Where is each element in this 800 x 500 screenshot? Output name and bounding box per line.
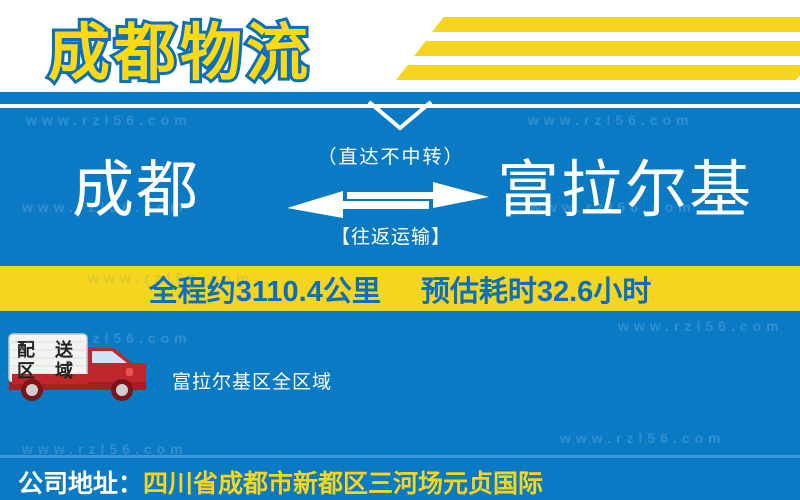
logistics-banner: 成都物流 成都 （直达不中转） 【往返运输】 富拉尔基 全程约3110.4公里 … [0,0,800,500]
route-note-bottom: 【往返运输】 [286,222,496,249]
watermark: www.rzl56.com [560,430,726,446]
watermark: www.rzl56.com [26,112,192,128]
banner-header: 成都物流 [0,0,800,92]
page-title: 成都物流 [48,2,312,92]
chevron-down-icon [367,100,433,132]
decorative-stripe-2 [414,41,800,56]
coverage-area-text: 富拉尔基区全区域 [172,367,332,394]
route-note-top: （直达不中转） [286,142,496,169]
delivery-truck-icon: 配 送 区 域 [6,330,154,402]
decorative-stripe-3 [396,65,800,80]
duration-value: 预估耗时32.6小时 [421,268,651,310]
stats-band: 全程约3110.4公里 预估耗时32.6小时 [0,266,800,311]
decorative-stripe-1 [432,17,800,32]
distance-value: 全程约3110.4公里 [149,268,381,310]
address-label: 公司地址： [18,470,143,498]
truck-label-char-3: 区 [17,361,35,381]
truck-label-char-4: 域 [55,360,73,381]
origin-city: 成都 [72,160,200,222]
footer-divider [0,455,800,458]
double-arrow-icon [285,178,491,220]
truck-label-char-1: 配 [17,340,35,360]
address-value: 四川省成都市新都区三河场元贞国际 [143,470,543,498]
truck-label-char-2: 送 [54,339,74,360]
watermark: www.rzl56.com [528,112,694,128]
company-address: 公司地址：四川省成都市新都区三河场元贞国际 [18,464,543,500]
watermark: www.rzl56.com [618,318,784,334]
destination-city: 富拉尔基 [497,160,753,222]
